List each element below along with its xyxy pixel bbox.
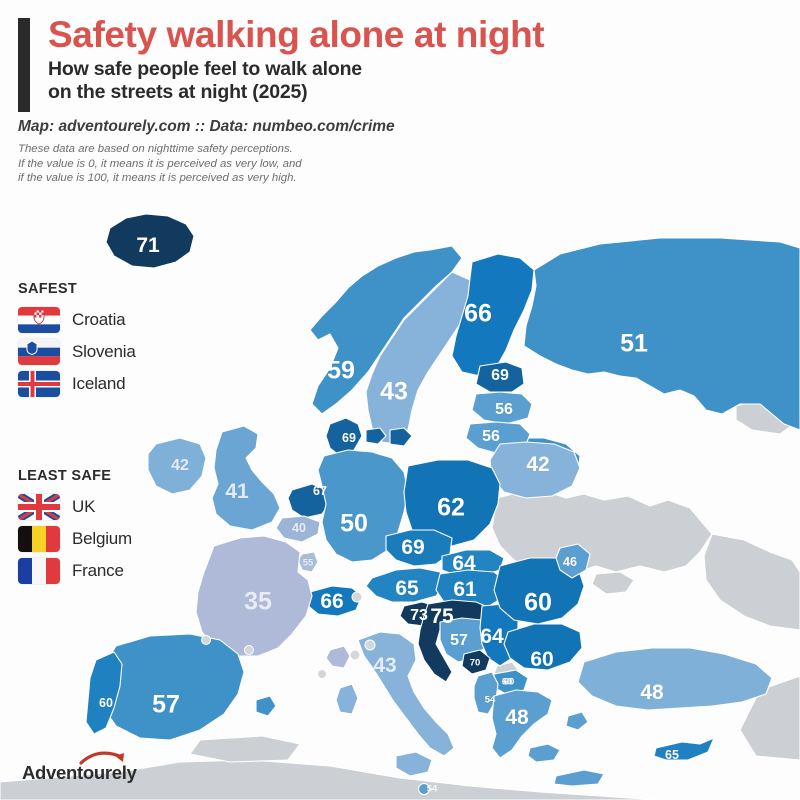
map-value-montenegro: 70 xyxy=(470,658,481,669)
legend-item-belgium[interactable]: Belgium xyxy=(18,524,132,554)
map-value-spain: 57 xyxy=(152,691,180,720)
legend-least-safe: LEAST SAFE UK xyxy=(18,468,132,588)
map-value-belarus: 42 xyxy=(526,453,549,477)
map-value-italy: 43 xyxy=(373,654,396,678)
map-value-north-macedonia: 60 xyxy=(504,677,515,688)
map-value-denmark: 69 xyxy=(342,431,356,445)
map-value-hungary: 61 xyxy=(453,578,476,602)
iceland-flag-icon xyxy=(18,371,60,397)
infographic-canvas: .c{stroke:#ffffff;stroke-width:1.1;strok… xyxy=(0,0,800,800)
map-value-iceland: 71 xyxy=(136,234,159,258)
map-value-turkey: 48 xyxy=(640,681,663,705)
map-value-portugal: 60 xyxy=(99,696,113,710)
page-title: Safety walking alone at night xyxy=(48,14,618,56)
map-value-bulgaria: 60 xyxy=(530,648,553,672)
note-line-2: If the value is 0, it means it is percei… xyxy=(18,157,368,172)
note-line-1: These data are based on nighttime safety… xyxy=(18,142,368,157)
map-value-malta: 54 xyxy=(427,784,438,795)
legend-least-safe-label-2: France xyxy=(72,561,124,581)
header: Safety walking alone at night How safe p… xyxy=(18,14,618,104)
legend-safest-label-1: Slovenia xyxy=(72,342,136,362)
map-value-belgium: 40 xyxy=(292,521,306,535)
source-credit: Map: adventourely.com :: Data: numbeo.co… xyxy=(18,118,395,136)
legend-least-safe-label-1: Belgium xyxy=(72,529,132,549)
legend-safest-label-0: Croatia xyxy=(72,310,125,330)
legend-safest: SAFEST Cro xyxy=(18,281,136,401)
map-value-germany: 50 xyxy=(340,510,368,539)
map-value-switzerland: 66 xyxy=(320,590,343,614)
map-value-slovakia: 64 xyxy=(452,552,475,576)
map-value-latvia: 56 xyxy=(495,401,513,419)
subtitle-line-1: How safe people feel to walk alone xyxy=(48,58,618,81)
map-value-slovenia: 73 xyxy=(410,607,428,625)
map-value-serbia: 64 xyxy=(480,625,503,649)
slovenia-flag-icon xyxy=(18,339,60,365)
map-value-finland: 66 xyxy=(464,300,492,329)
map-value-norway: 59 xyxy=(327,357,355,386)
map-value-netherlands: 67 xyxy=(313,484,327,498)
map-value-sweden: 43 xyxy=(380,378,408,407)
brand-logo[interactable]: Adventourely xyxy=(22,762,137,784)
map-value-bosnia-and-herzegovina: 57 xyxy=(450,632,468,650)
subtitle-line-2: on the streets at night (2025) xyxy=(48,81,618,104)
legend-least-safe-label-0: UK xyxy=(72,497,95,517)
map-value-poland: 62 xyxy=(437,494,465,523)
legend-safest-label-2: Iceland xyxy=(72,374,125,394)
page-subtitle: How safe people feel to walk alone on th… xyxy=(48,58,618,104)
map-value-luxembourg: 55 xyxy=(303,558,314,569)
uk-flag-icon xyxy=(18,494,60,520)
map-value-russia: 51 xyxy=(620,330,648,359)
map-value-austria: 65 xyxy=(395,577,418,601)
map-value-moldova: 46 xyxy=(563,555,577,569)
legend-safest-title: SAFEST xyxy=(18,281,136,297)
methodology-note: These data are based on nighttime safety… xyxy=(18,142,368,186)
legend-least-safe-title: LEAST SAFE xyxy=(18,468,132,484)
map-value-lithuania: 56 xyxy=(482,428,500,446)
map-value-romania: 60 xyxy=(524,589,552,618)
legend-item-uk[interactable]: UK xyxy=(18,492,132,522)
map-value-united-kingdom: 41 xyxy=(225,480,248,504)
legend-item-slovenia[interactable]: Slovenia xyxy=(18,337,136,367)
croatia-flag-icon xyxy=(18,307,60,333)
map-value-cyprus: 65 xyxy=(665,748,679,762)
map-value-czechia: 69 xyxy=(401,536,424,560)
map-value-ireland: 42 xyxy=(171,457,189,475)
france-flag-icon xyxy=(18,558,60,584)
map-value-france: 35 xyxy=(244,588,272,617)
logo-arrow-icon xyxy=(78,750,132,766)
legend-item-france[interactable]: France xyxy=(18,556,132,586)
note-line-3: if the value is 100, it means it is perc… xyxy=(18,171,368,186)
map-value-croatia: 75 xyxy=(430,605,453,629)
map-value-greece: 48 xyxy=(505,706,528,730)
map-value-albania: 54 xyxy=(485,695,496,706)
map-value-estonia: 69 xyxy=(491,367,509,385)
legend-item-croatia[interactable]: Croatia xyxy=(18,305,136,335)
title-accent-bar xyxy=(18,18,30,112)
belgium-flag-icon xyxy=(18,526,60,552)
legend-item-iceland[interactable]: Iceland xyxy=(18,369,136,399)
